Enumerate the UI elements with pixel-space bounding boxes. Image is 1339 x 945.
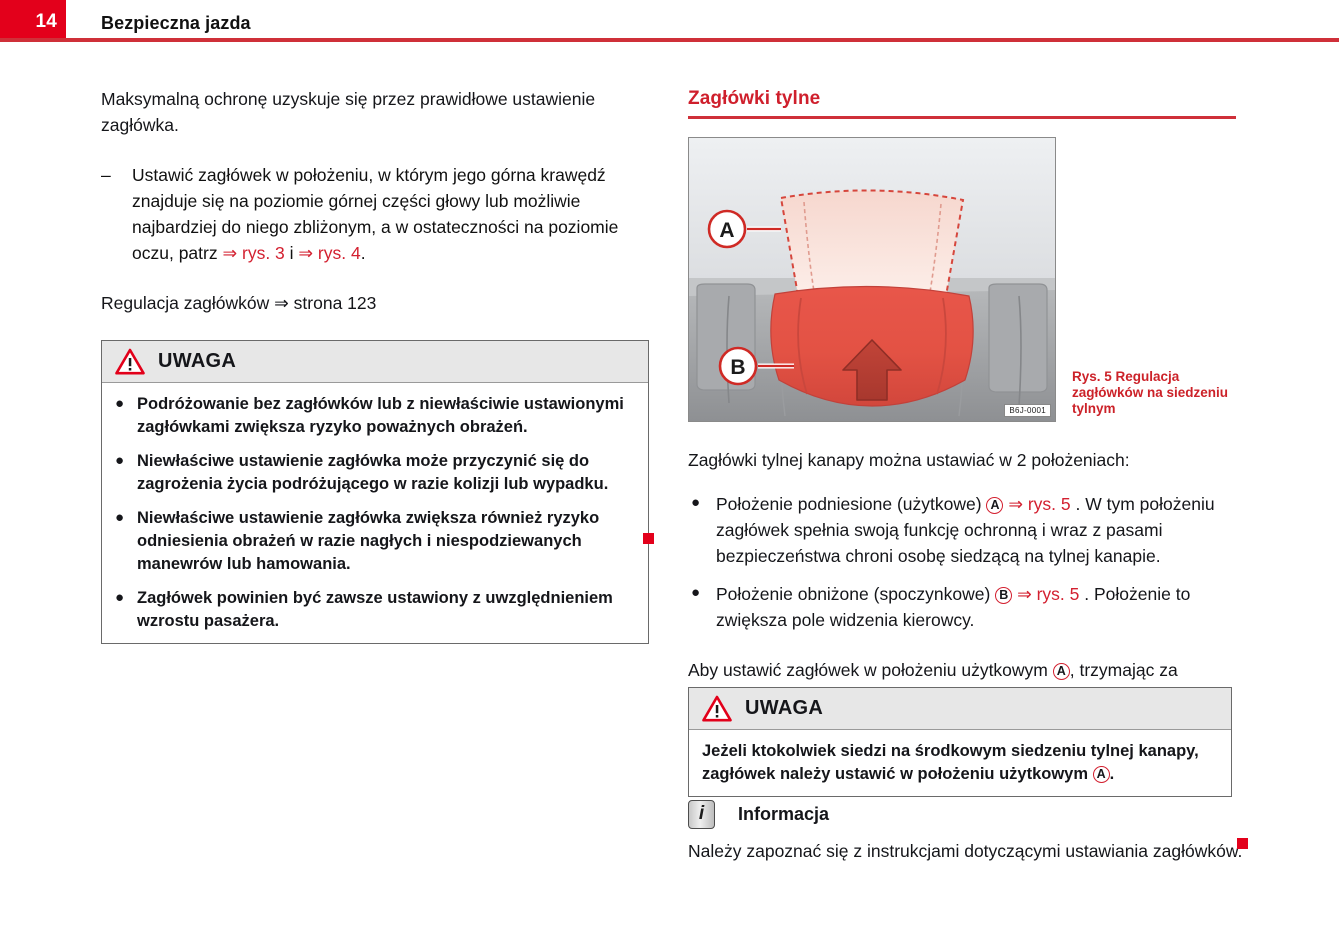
figure-reference-5[interactable]: ⇒ rys. 5 (1008, 494, 1070, 514)
warning-bullet-text: Podróżowanie bez zagłówków lub z niewłaś… (137, 395, 624, 436)
right-intro-paragraph: Zagłówki tylnej kanapy można ustawiać w … (688, 447, 1236, 473)
info-header: i Informacja (688, 798, 1248, 830)
svg-text:A: A (719, 219, 734, 242)
bullet-marker: ● (115, 506, 124, 529)
figure-block: A B B6J-0001 (688, 137, 1056, 422)
figure-code-label: B6J-0001 (1004, 404, 1051, 417)
bullet-marker: ● (115, 586, 124, 609)
info-title: Informacja (738, 804, 829, 825)
section-heading-block: Zagłówki tylne (688, 88, 1236, 119)
bullet-marker: ● (115, 449, 124, 472)
circled-letter-a: A (1093, 766, 1110, 783)
page-number-badge: 14 (0, 0, 66, 38)
warning-title: UWAGA (745, 697, 823, 720)
bullet-marker: ● (691, 580, 700, 606)
warning-bullet: ●Niewłaściwe ustawienie zagłówka może pr… (115, 450, 635, 496)
headrest-illustration: A B B6J-0001 (688, 137, 1056, 422)
warning-bullet: ●Niewłaściwe ustawienie zagłówka zwiększ… (115, 507, 635, 576)
bullet-text-before: Położenie obniżone (spoczynkowe) (716, 584, 995, 604)
section-end-marker-left (643, 533, 654, 544)
bullet-marker: ● (691, 490, 700, 516)
circled-letter-b: B (995, 587, 1012, 604)
warning-triangle-icon (702, 695, 732, 722)
instruction-part-1: Aby ustawić zagłówek w położeniu użytkow… (688, 660, 1053, 680)
warning-bullet-text: Zagłówek powinien być zawsze ustawiony z… (137, 589, 613, 630)
position-bullet-a: ●Położenie podniesione (użytkowe) A ⇒ ry… (688, 491, 1236, 569)
section-heading: Zagłówki tylne (688, 88, 1236, 116)
figure-reference-5[interactable]: ⇒ rys. 5 (1017, 584, 1079, 604)
intro-paragraph: Maksymalną ochronę uzyskuje się przez pr… (101, 86, 649, 138)
left-column: Maksymalną ochronę uzyskuje się przez pr… (101, 86, 649, 644)
dash-item-conjunction: i (285, 243, 299, 263)
info-block: i Informacja Należy zapoznać się z instr… (688, 798, 1248, 864)
warning-text-before: Jeżeli ktokolwiek siedzi na środkowym si… (702, 742, 1199, 783)
position-bullet-b: ●Położenie obniżone (spoczynkowe) B ⇒ ry… (688, 581, 1236, 633)
figure-reference-3[interactable]: ⇒ rys. 3 (222, 243, 284, 263)
dash-list-item: – Ustawić zagłówek w położeniu, w którym… (101, 162, 649, 266)
dash-marker: – (101, 162, 111, 188)
headrest-figure-svg: A B (689, 138, 1055, 421)
section-heading-divider (688, 116, 1236, 119)
warning-text-after: . (1110, 765, 1115, 783)
figure-reference-4[interactable]: ⇒ rys. 4 (298, 243, 360, 263)
circled-letter-a: A (1053, 663, 1070, 680)
warning-title: UWAGA (158, 350, 236, 373)
info-icon: i (688, 800, 715, 829)
info-text: Należy zapoznać się z instrukcjami dotyc… (688, 838, 1248, 864)
dash-item-text: Ustawić zagłówek w położeniu, w którym j… (132, 165, 618, 263)
warning-header: UWAGA (689, 688, 1231, 730)
page-header: 14 Bezpieczna jazda (0, 0, 1339, 43)
section-end-marker-right (1237, 838, 1248, 849)
warning-box-right: UWAGA Jeżeli ktokolwiek siedzi na środko… (688, 687, 1232, 797)
warning-box-left: UWAGA ●Podróżowanie bez zagłówków lub z … (101, 340, 649, 644)
figure-caption: Rys. 5 Regulacja zagłówków na siedzeniu … (1072, 369, 1232, 417)
warning-header: UWAGA (102, 341, 648, 383)
bullet-text-before: Położenie podniesione (użytkowe) (716, 494, 986, 514)
warning-text: Jeżeli ktokolwiek siedzi na środkowym si… (702, 740, 1218, 786)
warning-bullet-text: Niewłaściwe ustawienie zagłówka może prz… (137, 452, 608, 493)
circled-letter-a: A (986, 497, 1003, 514)
bullet-marker: ● (115, 392, 124, 415)
warning-bullet: ●Zagłówek powinien być zawsze ustawiony … (115, 587, 635, 633)
warning-body: ●Podróżowanie bez zagłówków lub z niewła… (102, 383, 648, 643)
svg-text:B: B (730, 356, 745, 379)
dash-item-text-end: . (361, 243, 366, 263)
warning-triangle-icon (115, 348, 145, 375)
warning-bullet: ●Podróżowanie bez zagłówków lub z niewła… (115, 393, 635, 439)
warning-body: Jeżeli ktokolwiek siedzi na środkowym si… (689, 730, 1231, 796)
header-divider (0, 38, 1339, 42)
page-number: 14 (35, 11, 57, 33)
warning-bullet-text: Niewłaściwe ustawienie zagłówka zwiększa… (137, 509, 599, 573)
cross-reference[interactable]: Regulacja zagłówków ⇒ strona 123 (101, 290, 649, 316)
chapter-title: Bezpieczna jazda (101, 13, 251, 34)
